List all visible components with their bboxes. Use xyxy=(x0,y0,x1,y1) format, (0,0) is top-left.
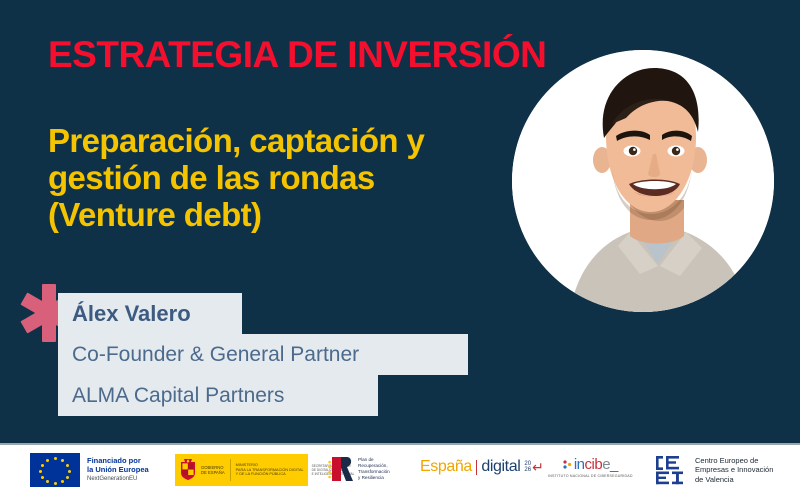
speaker-role-row: Co-Founder & General Partner xyxy=(58,334,468,375)
logo-incibe: incibe_ INSTITUTO NACIONAL DE CIBERSEGUR… xyxy=(548,457,633,478)
ceei-line-2: Empresas e Innovación xyxy=(695,465,773,475)
espana-word: España xyxy=(420,458,472,476)
speaker-company: ALMA Capital Partners xyxy=(58,384,284,408)
prtr-text: Plan de Recuperación, Transformación y R… xyxy=(358,457,390,482)
speaker-card: Álex Valero Co-Founder & General Partner… xyxy=(58,293,468,416)
ceei-mark-icon xyxy=(655,455,689,485)
footer-logo-bar: Financiado por la Unión Europea NextGene… xyxy=(0,445,800,500)
eu-flag-icon xyxy=(30,453,80,487)
portrait-illustration xyxy=(512,50,774,312)
prtr-line-4: y Resiliencia xyxy=(358,475,390,481)
presentation-slide: ESTRATEGIA DE INVERSIÓN Preparación, cap… xyxy=(0,0,800,500)
speaker-name-row: Álex Valero xyxy=(58,293,242,334)
gobierno-line-2: DE ESPAÑA xyxy=(201,470,225,475)
logo-ceei-valencia: Centro Europeo de Empresas e Innovación … xyxy=(655,455,773,485)
espana-digital-divider xyxy=(476,460,478,475)
year-bottom: 26 xyxy=(524,467,531,473)
arrow-down-icon: ↵ xyxy=(532,459,544,476)
speaker-name: Álex Valero xyxy=(58,301,191,327)
logo-plan-recuperacion: Plan de Recuperación, Transformación y R… xyxy=(328,456,390,482)
incibe-subtitle: INSTITUTO NACIONAL DE CIBERSEGURIDAD xyxy=(548,474,633,478)
gobierno-separator xyxy=(230,459,231,481)
ministry-line-3: Y DE LA FUNCIÓN PÚBLICA xyxy=(236,472,304,477)
gobierno-title: GOBIERNO DE ESPAÑA xyxy=(201,465,225,476)
page-subtitle: Preparación, captación y gestión de las … xyxy=(48,123,508,234)
espana-digital-year: 20 26 xyxy=(524,461,531,473)
logo-espana-digital: España digital 20 26 ↵ xyxy=(420,458,544,476)
incibe-wordmark: incibe_ xyxy=(548,457,633,472)
logo-eu-nextgeneration: Financiado por la Unión Europea NextGene… xyxy=(30,453,149,487)
subtitle-line-3: (Venture debt) xyxy=(48,197,508,234)
prtr-mark-icon xyxy=(328,456,354,482)
ceei-text: Centro Europeo de Empresas e Innovación … xyxy=(695,456,773,485)
coat-of-arms-icon xyxy=(179,459,197,481)
incibe-wrap: incibe_ INSTITUTO NACIONAL DE CIBERSEGUR… xyxy=(548,457,633,478)
eu-line-2: la Unión Europea xyxy=(87,466,149,474)
incibe-dot-icon xyxy=(563,457,572,472)
page-title: ESTRATEGIA DE INVERSIÓN xyxy=(48,34,546,76)
subtitle-line-2: gestión de las rondas xyxy=(48,160,508,197)
eu-logo-text: Financiado por la Unión Europea NextGene… xyxy=(87,457,149,483)
ministry-title: MINISTERIO PARA LA TRANSFORMACIÓN DIGITA… xyxy=(236,463,304,478)
speaker-role: Co-Founder & General Partner xyxy=(58,343,359,367)
eu-line-3: NextGenerationEU xyxy=(87,476,149,483)
digital-word: digital xyxy=(481,458,520,476)
subtitle-line-1: Preparación, captación y xyxy=(48,123,508,160)
ceei-line-3: de Valencia xyxy=(695,475,773,485)
ceei-line-1: Centro Europeo de xyxy=(695,456,773,466)
gobierno-yellow-block: GOBIERNO DE ESPAÑA MINISTERIO PARA LA TR… xyxy=(175,454,308,486)
speaker-company-row: ALMA Capital Partners xyxy=(58,375,378,416)
avatar xyxy=(512,50,774,312)
